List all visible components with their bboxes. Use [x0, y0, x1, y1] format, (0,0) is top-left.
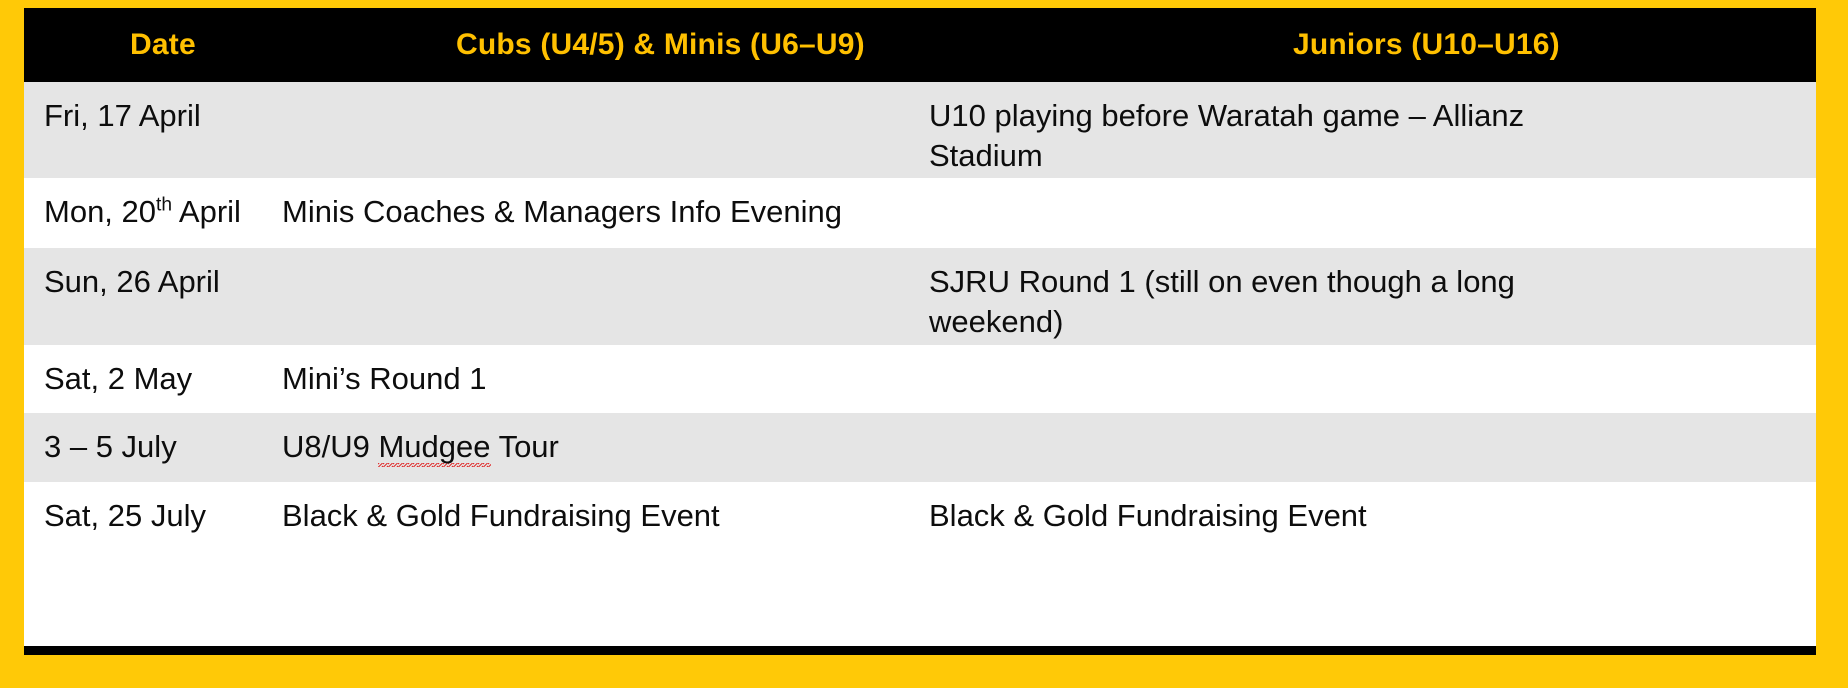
column-header-date-label: Date [130, 28, 196, 62]
cell-date-text-suffix: April [172, 194, 241, 229]
cell-juniors-text: SJRU Round 1 (still on even though a lon… [929, 264, 1515, 339]
cell-juniors: Black & Gold Fundraising Event [929, 496, 1569, 536]
column-header-cubs-minis-label: Cubs (U4/5) & Minis (U6–U9) [456, 28, 865, 62]
cell-date-text: Mon, 20 [44, 194, 156, 229]
cell-juniors-text: U10 playing before Waratah game – Allian… [929, 98, 1524, 173]
cell-date: Sat, 25 July [44, 496, 294, 536]
slide-canvas: Date Cubs (U4/5) & Minis (U6–U9) Juniors… [0, 0, 1848, 688]
cell-cubs-minis: Black & Gold Fundraising Event [282, 496, 922, 536]
cell-cubs-minis: U8/U9 Mudgee Tour [282, 427, 922, 467]
column-header-juniors-label: Juniors (U10–U16) [1293, 28, 1560, 62]
cell-cubs-minis: Mini’s Round 1 [282, 359, 922, 399]
cell-juniors-text: Black & Gold Fundraising Event [929, 498, 1367, 533]
column-header-date: Date [130, 8, 196, 82]
cell-juniors: U10 playing before Waratah game – Allian… [929, 96, 1569, 176]
cell-date: Sat, 2 May [44, 359, 294, 399]
cell-date-ordinal-suffix: th [156, 195, 172, 216]
cell-date: 3 – 5 July [44, 427, 294, 467]
table-row: 3 – 5 July U8/U9 Mudgee Tour [24, 413, 1816, 482]
cell-date-text: Sat, 2 May [44, 361, 192, 396]
table-header-row: Date Cubs (U4/5) & Minis (U6–U9) Juniors… [24, 8, 1816, 82]
table-row: Sat, 2 May Mini’s Round 1 [24, 345, 1816, 413]
cell-date: Sun, 26 April [44, 262, 294, 302]
cell-cubs-minis-text: Mini’s Round 1 [282, 361, 486, 396]
table-row: Mon, 20th April Minis Coaches & Managers… [24, 178, 1816, 248]
table-row: Fri, 17 April U10 playing before Waratah… [24, 82, 1816, 178]
cell-date-text: Fri, 17 April [44, 98, 201, 133]
cell-date-text: Sat, 25 July [44, 498, 206, 533]
cell-date-text: Sun, 26 April [44, 264, 220, 299]
column-header-cubs-minis: Cubs (U4/5) & Minis (U6–U9) [456, 8, 865, 82]
cell-juniors: SJRU Round 1 (still on even though a lon… [929, 262, 1569, 342]
cell-cubs-minis-prefix: U8/U9 [282, 429, 378, 464]
column-header-juniors: Juniors (U10–U16) [1293, 8, 1560, 82]
table-row: Sun, 26 April SJRU Round 1 (still on eve… [24, 248, 1816, 345]
table-bottom-border [24, 646, 1816, 655]
cell-date-text: 3 – 5 July [44, 429, 177, 464]
cell-cubs-minis: Minis Coaches & Managers Info Evening [282, 192, 922, 232]
cell-cubs-minis-text: Black & Gold Fundraising Event [282, 498, 720, 533]
schedule-table: Date Cubs (U4/5) & Minis (U6–U9) Juniors… [24, 8, 1816, 655]
cell-cubs-minis-text: Minis Coaches & Managers Info Evening [282, 194, 842, 229]
cell-date: Fri, 17 April [44, 96, 294, 136]
cell-cubs-minis-misspelled-word: Mudgee [378, 429, 490, 468]
cell-date: Mon, 20th April [44, 192, 294, 232]
cell-cubs-minis-suffix: Tour [491, 429, 559, 464]
table-row: Sat, 25 July Black & Gold Fundraising Ev… [24, 482, 1816, 646]
